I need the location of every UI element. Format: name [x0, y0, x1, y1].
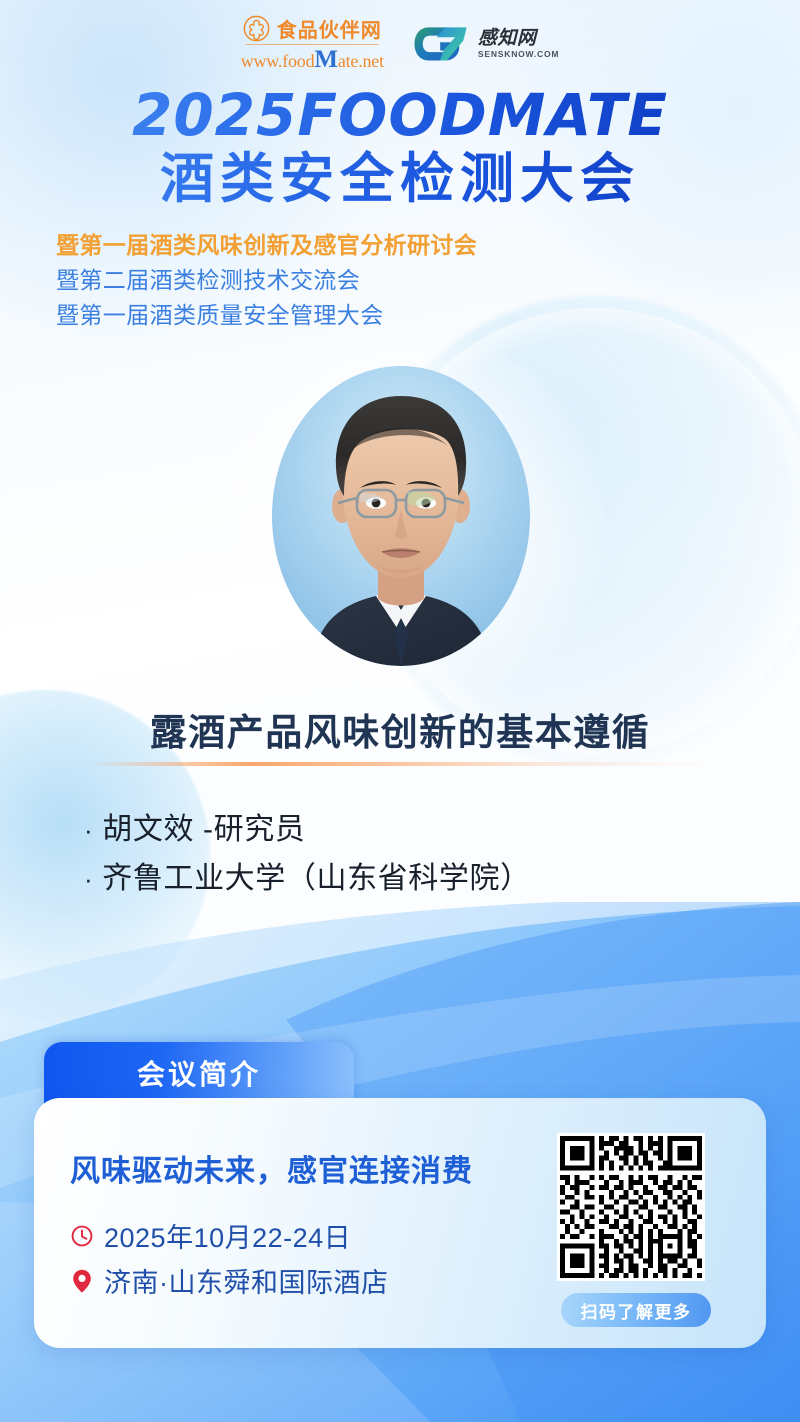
conference-poster: 食品伙伴网 www.foodMate.net	[0, 0, 800, 1422]
subtitle-list: 暨第一届酒类风味创新及感官分析研讨会 暨第二届酒类检测技术交流会 暨第一届酒类质…	[56, 228, 756, 333]
conference-detail-rows: 2025年10月22-24日 济南·山东舜和国际酒店	[70, 1216, 473, 1300]
scan-qr-cta-label: 扫码了解更多	[581, 1298, 692, 1323]
conference-date-text: 2025年10月22-24日	[104, 1216, 351, 1255]
flower-emblem-icon	[243, 15, 270, 42]
foodmate-logo-cn: 食品伙伴网	[277, 14, 382, 43]
qr-code-icon[interactable]	[557, 1133, 705, 1281]
sensknow-logo-cn: 感知网	[478, 29, 559, 48]
talk-title-underline	[88, 762, 712, 766]
conference-info-left: 风味驱动未来，感官连接消费 2025年10月22-24日	[70, 1146, 473, 1300]
conference-slogan: 风味驱动未来，感官连接消费	[70, 1146, 473, 1190]
logo-bar: 食品伙伴网 www.foodMate.net	[0, 14, 800, 75]
foodmate-url-suffix: ate.net	[338, 51, 384, 71]
speaker-line-affiliation: · 齐鲁工业大学（山东省科学院）	[84, 855, 764, 904]
clock-icon	[70, 1223, 94, 1249]
sensknow-logo[interactable]: 感知网 SENSKNOW.COM	[412, 24, 559, 64]
speaker-portrait	[272, 366, 530, 666]
foodmate-url-big: M	[314, 46, 337, 73]
scan-qr-cta-button[interactable]: 扫码了解更多	[561, 1293, 711, 1327]
location-pin-icon	[70, 1268, 94, 1294]
conference-date-row: 2025年10月22-24日	[70, 1216, 473, 1255]
subtitle-line-1: 暨第一届酒类风味创新及感官分析研讨会	[56, 228, 756, 263]
talk-title: 露酒产品风味创新的基本遵循	[0, 702, 800, 756]
headline-english: 2025FOODMATE	[0, 86, 800, 145]
foodmate-logo-url: www.foodMate.net	[241, 46, 384, 75]
sensknow-logo-en: SENSKNOW.COM	[478, 49, 559, 59]
subtitle-line-2: 暨第二届酒类检测技术交流会	[56, 263, 756, 298]
foodmate-logo-rule	[246, 44, 379, 45]
foodmate-url-prefix: www.food	[241, 51, 315, 71]
speaker-name-text: 胡文效 -研究员	[102, 806, 305, 855]
speaker-affiliation-text: 齐鲁工业大学（山东省科学院）	[102, 855, 530, 904]
conference-venue-text: 济南·山东舜和国际酒店	[104, 1261, 389, 1300]
section-tab-label: 会议简介	[137, 1053, 261, 1093]
headline-chinese: 酒类安全检测大会	[0, 149, 800, 209]
affiliation-bullet-icon: ·	[84, 866, 93, 892]
speaker-bullet-icon: ·	[84, 817, 93, 843]
subtitle-line-3: 暨第一届酒类质量安全管理大会	[56, 298, 756, 333]
foodmate-logo[interactable]: 食品伙伴网 www.foodMate.net	[241, 14, 384, 75]
speaker-info: · 胡文效 -研究员 · 齐鲁工业大学（山东省科学院）	[84, 806, 764, 903]
poster-headline: 2025FOODMATE 酒类安全检测大会	[0, 86, 800, 210]
conference-venue-row: 济南·山东舜和国际酒店	[70, 1261, 473, 1300]
speaker-line-name: · 胡文效 -研究员	[84, 806, 764, 855]
gz-mark-icon	[412, 24, 470, 64]
